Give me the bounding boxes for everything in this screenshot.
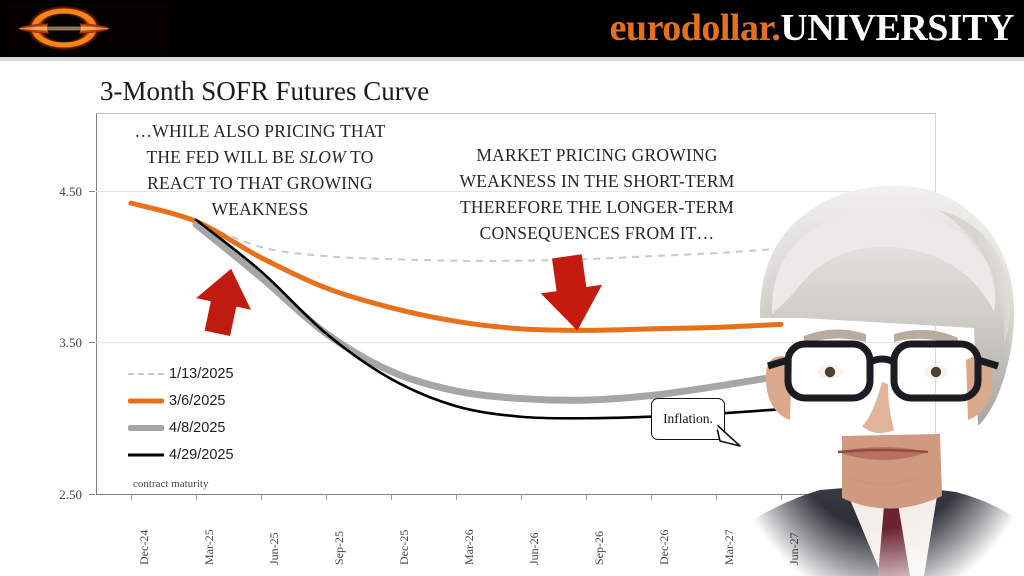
legend-swatch-black-icon xyxy=(128,448,164,462)
legend-label-4-29-2025: 4/29/2025 xyxy=(169,447,234,463)
legend-label-1-13-2025: 1/13/2025 xyxy=(169,366,234,382)
annotation-left-line2-italic: SLOW xyxy=(299,147,346,167)
legend-item-1-13-2025[interactable]: 1/13/2025 xyxy=(128,360,298,387)
legend-item-3-6-2025[interactable]: 3/6/2025 xyxy=(128,387,298,414)
annotation-right-line4: CONSEQUENCES FROM IT… xyxy=(432,220,762,246)
legend-item-4-29-2025[interactable]: 4/29/2025 xyxy=(128,441,298,468)
legend-label-4-8-2025: 4/8/2025 xyxy=(169,420,225,436)
legend-swatch-gray-icon xyxy=(128,421,164,435)
arrow-down-icon xyxy=(536,252,608,335)
annotation-left-line1: …WHILE ALSO PRICING THAT xyxy=(110,118,410,144)
legend-item-4-8-2025[interactable]: 4/8/2025 xyxy=(128,414,298,441)
arrow-up-icon xyxy=(190,263,258,339)
annotation-right-line2: WEAKNESS IN THE SHORT-TERM xyxy=(432,168,762,194)
powell-photo xyxy=(742,168,1024,576)
chart-legend: 1/13/2025 3/6/2025 4/8/2025 4/29/2025 xyxy=(128,360,298,468)
annotation-left-line4: WEAKNESS xyxy=(110,196,410,222)
slide-root: eurodollar.UNIVERSITY 3-Month SOFR Futur… xyxy=(0,0,1024,576)
annotation-left-line2b: TO xyxy=(346,147,374,167)
legend-swatch-dashed-icon xyxy=(128,367,164,381)
annotation-left-line2: THE FED WILL BE SLOW TO xyxy=(110,144,410,170)
inflation-callout: Inflation. xyxy=(651,398,725,440)
annotation-right-line1: MARKET PRICING GROWING xyxy=(432,142,762,168)
annotation-left-line3: REACT TO THAT GROWING xyxy=(110,170,410,196)
annotation-right-line3: THEREFORE THE LONGER-TERM xyxy=(432,194,762,220)
inflation-callout-label: Inflation. xyxy=(663,411,713,427)
legend-label-3-6-2025: 3/6/2025 xyxy=(169,393,225,409)
legend-swatch-orange-icon xyxy=(128,394,164,408)
annotation-left: …WHILE ALSO PRICING THAT THE FED WILL BE… xyxy=(110,118,410,222)
annotation-left-line2a: THE FED WILL BE xyxy=(146,147,299,167)
annotation-right: MARKET PRICING GROWING WEAKNESS IN THE S… xyxy=(432,142,762,246)
inflation-callout-tail xyxy=(716,424,742,448)
